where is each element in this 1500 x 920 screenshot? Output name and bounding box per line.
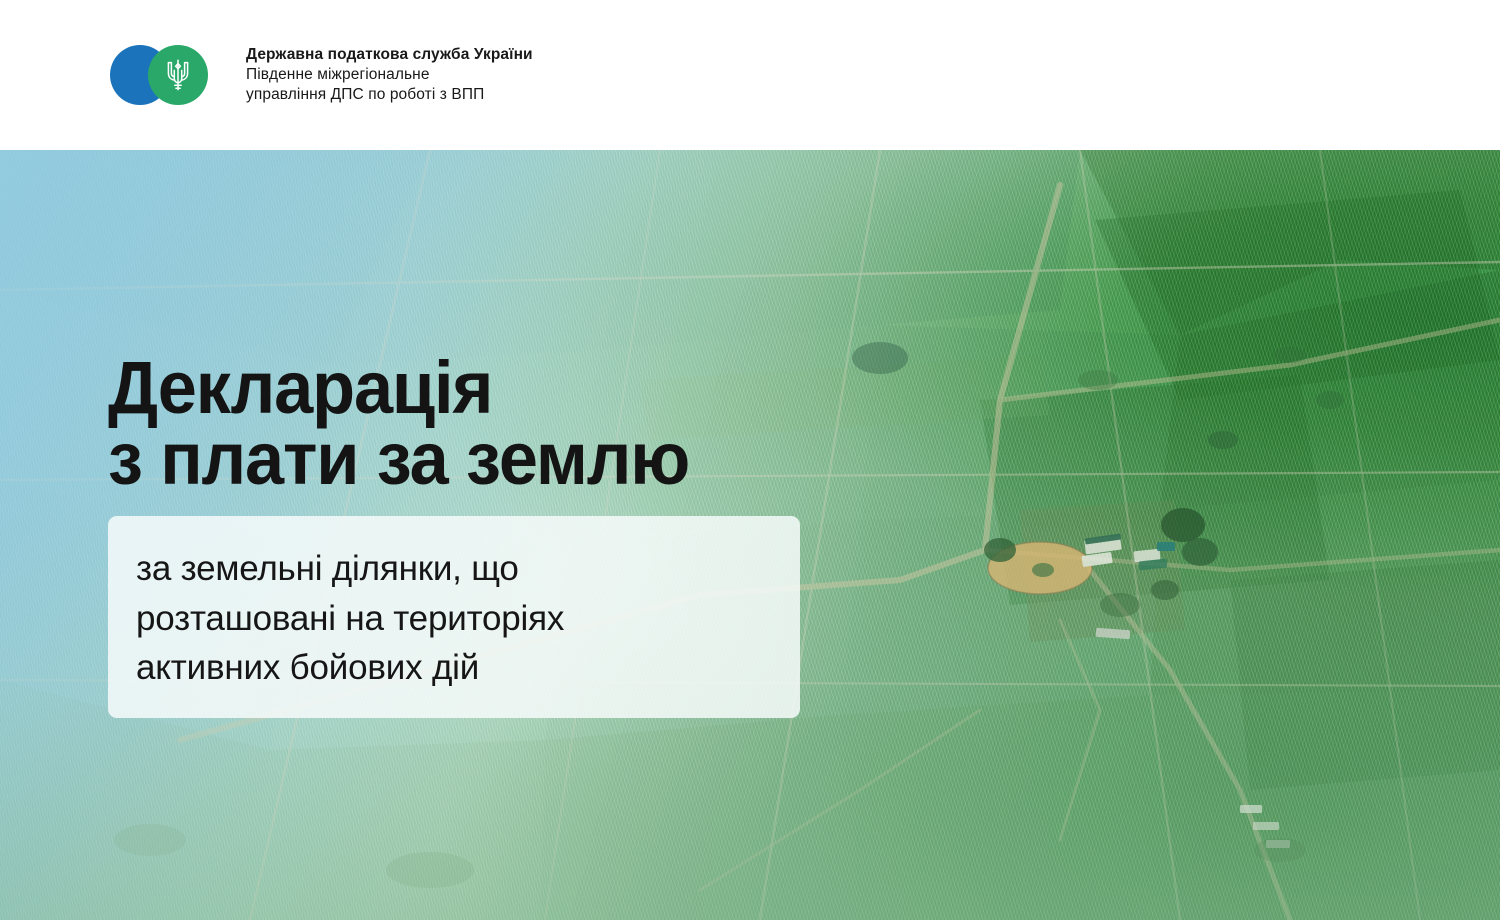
- poster-canvas: Декларація з плати за землю за земельні …: [0, 0, 1500, 920]
- ukrainian-trident-icon: [165, 58, 191, 92]
- subtitle-card: за земельні ділянки, що розташовані на т…: [108, 516, 800, 718]
- org-line-2: Південне міжрегіональне: [246, 65, 533, 85]
- organization-name: Державна податкова служба України Півден…: [246, 45, 533, 105]
- page-title: Декларація з плати за землю: [108, 352, 689, 494]
- org-line-1: Державна податкова служба України: [246, 45, 533, 65]
- headline-line-2: з плати за землю: [108, 423, 689, 494]
- page-header: Державна податкова служба України Півден…: [0, 0, 1500, 150]
- subtitle-line-2: розташовані на територіях: [136, 594, 800, 644]
- organization-logo: [110, 45, 236, 105]
- org-line-3: управління ДПС по роботі з ВПП: [246, 85, 533, 105]
- subtitle-line-1: за земельні ділянки, що: [136, 544, 800, 594]
- green-circle-icon: [148, 45, 208, 105]
- subtitle-line-3: активних бойових дій: [136, 643, 800, 693]
